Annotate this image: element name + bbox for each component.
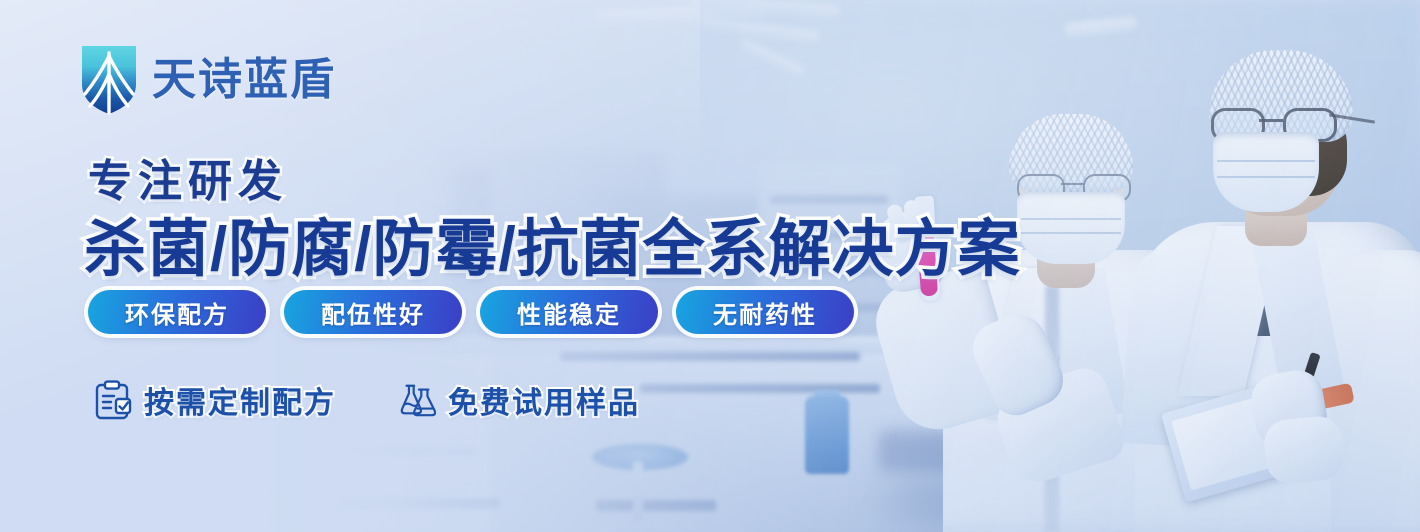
feature-pill-label: 配伍性好 — [321, 295, 425, 330]
cta-label: 按需定制配方 — [144, 378, 336, 422]
clipboard-check-icon — [94, 380, 132, 420]
cta-free-sample[interactable]: 免费试用样品 — [398, 378, 640, 422]
banner-content: 天诗蓝盾 专注研发 杀菌/防腐/防霉/抗菌全系解决方案 环保配方 配伍性好 性能… — [0, 0, 1420, 532]
cta-list: 按需定制配方 免费试用样品 — [94, 378, 640, 422]
shield-logo-icon — [80, 44, 138, 116]
feature-pill-label: 无耐药性 — [713, 295, 817, 330]
feature-pill-label: 性能稳定 — [517, 295, 621, 330]
flask-icon — [398, 380, 436, 420]
feature-pill[interactable]: 性能稳定 — [480, 290, 658, 334]
feature-pill[interactable]: 无耐药性 — [676, 290, 854, 334]
cta-label: 免费试用样品 — [448, 378, 640, 422]
headline-title: 杀菌/防腐/防霉/抗菌全系解决方案 — [84, 198, 1021, 288]
feature-pill[interactable]: 环保配方 — [88, 290, 266, 334]
brand-name: 天诗蓝盾 — [152, 58, 336, 102]
feature-pill[interactable]: 配伍性好 — [284, 290, 462, 334]
feature-pill-list: 环保配方 配伍性好 性能稳定 无耐药性 — [88, 290, 854, 334]
feature-pill-label: 环保配方 — [125, 295, 229, 330]
brand-logo[interactable]: 天诗蓝盾 — [80, 44, 336, 116]
hero-banner: 天诗蓝盾 专注研发 杀菌/防腐/防霉/抗菌全系解决方案 环保配方 配伍性好 性能… — [0, 0, 1420, 532]
cta-custom-formula[interactable]: 按需定制配方 — [94, 378, 336, 422]
